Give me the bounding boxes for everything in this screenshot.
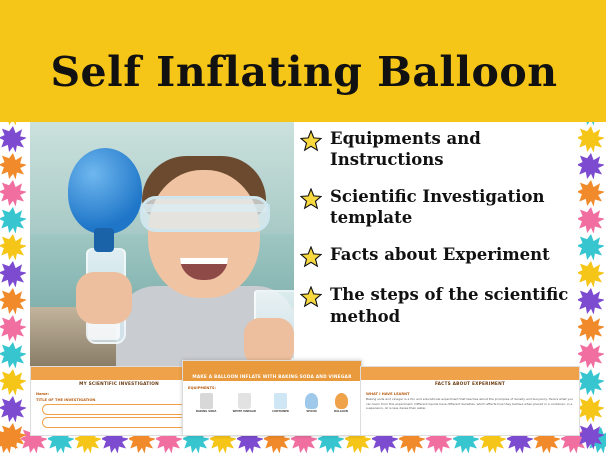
burst-star-icon: [0, 288, 26, 314]
safety-goggles: [140, 196, 270, 232]
burst-star-icon: [578, 423, 604, 449]
equipment-label: WHITE VINEGAR: [233, 410, 257, 413]
burst-star-icon: [578, 126, 604, 152]
container-icon: [274, 393, 287, 409]
thumb-header-band: [183, 361, 361, 374]
thumb-title: MAKE A BALLOON INFLATE WITH BAKING SODA …: [183, 374, 361, 381]
thumb-section-title: WHAT I HAVE LEARNT: [366, 392, 574, 396]
balloon-neck: [94, 228, 114, 252]
star-icon: [300, 188, 322, 210]
equipment-item: WHITE VINEGAR: [233, 393, 257, 413]
thumb-answer-box: [42, 404, 196, 415]
boy-hand-right: [244, 318, 294, 366]
spoon-icon: [305, 393, 318, 409]
burst-star-icon: [578, 396, 604, 422]
burst-star-icon: [578, 207, 604, 233]
equipment-label: BALLOON: [334, 410, 348, 413]
burst-star-icon: [578, 288, 604, 314]
burst-star-icon: [0, 261, 26, 287]
worksheet-previews: MY SCIENTIFIC INVESTIGATION Name: TITLE …: [30, 366, 578, 434]
star-icon: [300, 246, 322, 268]
list-item-label: Scientific Investigation template: [330, 186, 578, 228]
equipment-label: BAKING SODA: [196, 410, 216, 413]
burst-star-icon: [578, 234, 604, 260]
burst-star-icon: [0, 207, 26, 233]
equipment-item: SPOON: [305, 393, 318, 413]
thumb-answer-box: [42, 417, 196, 428]
thumb-header-band: [31, 367, 207, 380]
equipment-item: CONTAINER: [272, 393, 289, 413]
thumb-field-name: Name:: [36, 392, 202, 396]
burst-star-icon: [578, 261, 604, 287]
thumb-title: MY SCIENTIFIC INVESTIGATION: [31, 380, 207, 387]
poster-page: Self Inflating Balloon Equipments and In…: [0, 0, 606, 455]
burst-star-icon: [0, 342, 26, 368]
thumb-title: FACTS ABOUT EXPERIMENT: [361, 380, 579, 387]
list-item: Facts about Experiment: [300, 244, 578, 268]
thumb-header-band: [361, 367, 579, 380]
thumb-section-title: EQUIPMENTS:: [188, 386, 356, 390]
burst-star-icon: [0, 396, 26, 422]
balloon-icon: [335, 393, 348, 409]
equipment-item: BALLOON: [334, 393, 348, 413]
hero-photo: [30, 122, 294, 366]
equipment-icon-row: BAKING SODA WHITE VINEGAR CONTAINER SPOO…: [188, 393, 356, 413]
worksheet-thumbnail-facts[interactable]: FACTS ABOUT EXPERIMENT WHAT I HAVE LEARN…: [360, 366, 580, 436]
burst-star-icon: [0, 180, 26, 206]
list-item: The steps of the scientific method: [300, 284, 578, 326]
equipment-label: CONTAINER: [272, 410, 289, 413]
thumb-body: WHAT I HAVE LEARNT Baking soda and vineg…: [361, 387, 579, 414]
equipment-item: BAKING SODA: [196, 393, 216, 413]
list-item-label: Equipments and Instructions: [330, 128, 578, 170]
list-item-label: Facts about Experiment: [330, 244, 550, 265]
thumb-paragraph: Baking soda and vinegar is a fun and edu…: [366, 397, 574, 411]
thumb-section-title: TITLE OF THE INVESTIGATION: [36, 398, 202, 402]
burst-star-icon: [0, 369, 26, 395]
list-item-label: The steps of the scientific method: [330, 284, 578, 326]
burst-star-icon: [578, 153, 604, 179]
burst-star-icon: [0, 315, 26, 341]
list-item: Equipments and Instructions: [300, 128, 578, 170]
burst-star-icon: [0, 234, 26, 260]
thumb-body: Name: TITLE OF THE INVESTIGATION: [31, 387, 207, 433]
equipment-label: SPOON: [305, 410, 318, 413]
star-icon: [300, 130, 322, 152]
blue-balloon: [68, 148, 142, 234]
feature-list: Equipments and Instructions Scientific I…: [300, 128, 578, 343]
burst-star-icon: [578, 342, 604, 368]
list-item: Scientific Investigation template: [300, 186, 578, 228]
vinegar-bottle-icon: [238, 393, 251, 409]
burst-star-icon: [0, 153, 26, 179]
thumb-body: EQUIPMENTS: BAKING SODA WHITE VINEGAR CO…: [183, 381, 361, 416]
burst-star-icon: [0, 423, 26, 449]
baking-soda-icon: [200, 393, 213, 409]
burst-star-icon: [578, 180, 604, 206]
burst-star-icon: [578, 315, 604, 341]
burst-star-icon: [0, 126, 26, 152]
star-icon: [300, 286, 322, 308]
worksheet-thumbnail-equipment[interactable]: MAKE A BALLOON INFLATE WITH BAKING SODA …: [182, 360, 362, 436]
page-title: Self Inflating Balloon: [50, 48, 557, 96]
title-container: Self Inflating Balloon: [30, 22, 578, 122]
boy-hand-left: [76, 272, 132, 324]
burst-star-icon: [578, 369, 604, 395]
